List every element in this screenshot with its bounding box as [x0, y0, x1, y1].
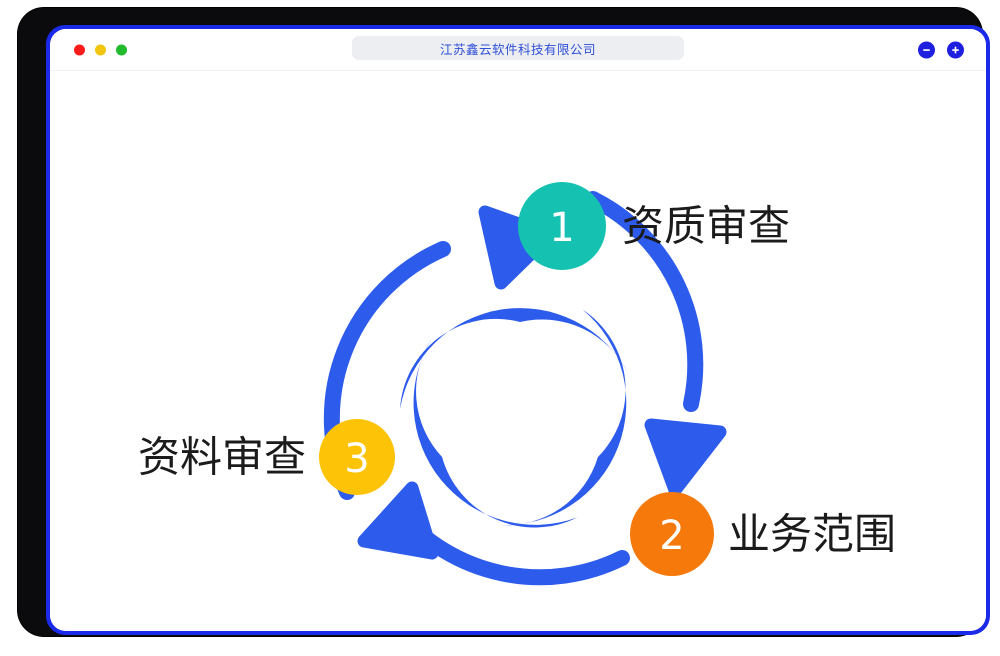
minus-icon [921, 44, 932, 55]
cycle-diagram: 1 资质审查 2 业务范围 3 资料审查 [50, 71, 986, 631]
step-node-2-number: 2 [659, 513, 684, 559]
zoom-out-button[interactable] [918, 41, 935, 58]
window-title: 江苏鑫云软件科技有限公司 [440, 39, 596, 58]
step-node-1-label: 资质审查 [622, 202, 790, 251]
cycle-arrow-3-head [364, 488, 432, 553]
step-node-3-label: 资料审查 [138, 433, 306, 482]
minimize-button[interactable] [95, 44, 106, 55]
step-node-1-number: 1 [549, 205, 574, 251]
step-node-3-number: 3 [344, 436, 369, 482]
close-button[interactable] [74, 44, 85, 55]
cycle-arrow-2-head [651, 425, 720, 490]
zoom-in-button[interactable] [947, 41, 964, 58]
device-frame: 江苏鑫云软件科技有限公司 [18, 8, 982, 636]
window-content: 1 资质审查 2 业务范围 3 资料审查 [50, 71, 986, 631]
window-title-pill[interactable]: 江苏鑫云软件科技有限公司 [352, 36, 684, 60]
traffic-light-controls[interactable] [74, 44, 127, 55]
plus-icon [950, 44, 961, 55]
step-node-3[interactable]: 3 资料审查 [138, 419, 395, 495]
application-window: 江苏鑫云软件科技有限公司 [50, 29, 986, 631]
maximize-button[interactable] [116, 44, 127, 55]
window-titlebar: 江苏鑫云软件科技有限公司 [50, 29, 986, 71]
step-node-2-label: 业务范围 [728, 510, 896, 559]
cycle-arrow-3 [364, 488, 622, 577]
screenshot-canvas: 江苏鑫云软件科技有限公司 [0, 0, 1000, 656]
window-action-buttons [918, 41, 964, 58]
inner-crescent-top [400, 308, 628, 409]
step-node-2[interactable]: 2 业务范围 [630, 492, 896, 576]
